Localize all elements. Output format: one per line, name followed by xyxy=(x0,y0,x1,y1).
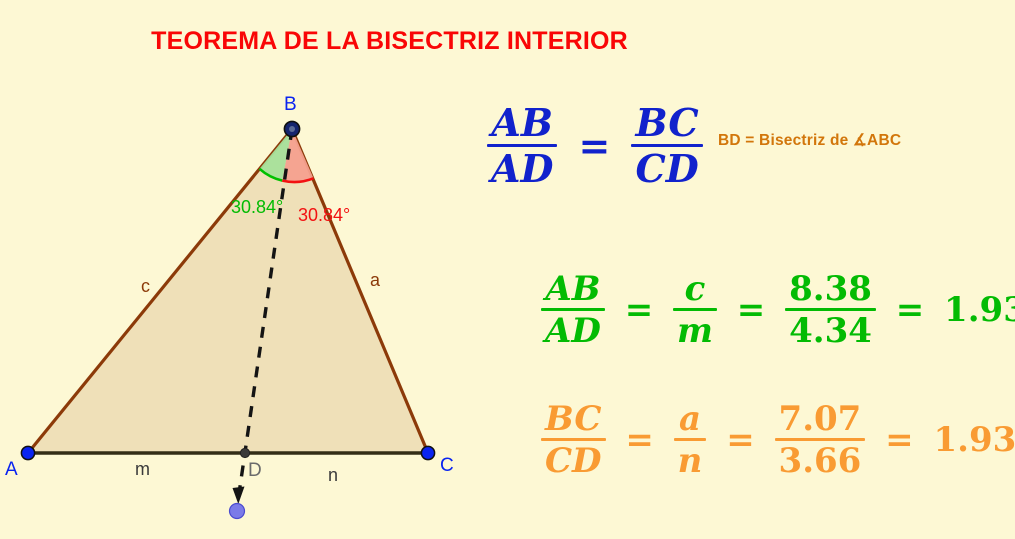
vertex-point-b-inner xyxy=(289,126,295,132)
side-label-m: m xyxy=(135,459,150,479)
formula-main-left-fraction: AB AD xyxy=(487,104,557,188)
formula-main-equals: = xyxy=(570,127,620,165)
formula-main-left-denominator: AD xyxy=(487,147,557,188)
orange-ratio-numerator: BC xyxy=(541,402,606,438)
orange-numbers-numerator: 7.07 xyxy=(775,402,866,438)
orange-equals-2: = xyxy=(717,423,764,457)
green-ratio-denominator: AD xyxy=(541,311,605,348)
vertex-label-c: C xyxy=(440,455,454,476)
geogebra-applet: TEOREMA DE LA BISECTRIZ INTERIOR B A C xyxy=(0,0,1015,539)
vertex-label-d: D xyxy=(248,460,262,481)
vertex-point-a[interactable] xyxy=(21,446,34,459)
orange-ratio-denominator: CD xyxy=(541,441,606,478)
formula-main-right-fraction: BC CD xyxy=(631,104,702,188)
green-equals-1: = xyxy=(616,293,663,327)
green-numbers-denominator: 4.34 xyxy=(785,311,876,348)
vertex-label-a: A xyxy=(5,459,18,480)
orange-result: 1.93 xyxy=(933,423,1015,457)
formula-main-right-denominator: CD xyxy=(631,147,702,188)
drag-point[interactable] xyxy=(230,504,245,519)
green-letters-denominator: m xyxy=(673,311,717,348)
bisector-arrowhead xyxy=(233,487,245,505)
green-ratio-numerator: AB xyxy=(541,272,605,308)
orange-numbers-denominator: 3.66 xyxy=(775,441,866,478)
orange-letters-denominator: n xyxy=(674,441,707,478)
triangle-abc-fill xyxy=(28,129,428,453)
green-letters-fraction: c m xyxy=(673,272,717,348)
green-ratio-equation: AB AD = c m = 8.38 4.34 = 1.93 xyxy=(541,272,1015,348)
formula-main-left-numerator: AB xyxy=(487,104,557,144)
green-result: 1.93 xyxy=(944,293,1015,327)
orange-letters-numerator: a xyxy=(674,402,707,438)
orange-equals-1: = xyxy=(616,423,663,457)
vertex-point-c[interactable] xyxy=(421,446,434,459)
green-numbers-numerator: 8.38 xyxy=(785,272,876,308)
side-label-c: c xyxy=(141,276,150,296)
side-label-a: a xyxy=(370,270,381,290)
angle-label-dbc: 30.84° xyxy=(298,205,350,225)
bisector-note: BD = Bisectriz de ∡ABC xyxy=(718,131,901,150)
formula-main-right-numerator: BC xyxy=(631,104,702,144)
point-d[interactable] xyxy=(240,448,249,457)
green-equals-2: = xyxy=(728,293,775,327)
orange-ratio-fraction: BC CD xyxy=(541,402,606,478)
green-letters-numerator: c xyxy=(673,272,717,308)
main-formula: AB AD = BC CD xyxy=(487,104,703,188)
geometry-figure: B A C D c a m n 30.84° 30.84° xyxy=(0,0,490,539)
orange-ratio-equation: BC CD = a n = 7.07 3.66 = 1.93 xyxy=(541,402,1015,478)
angle-label-abd: 30.84° xyxy=(231,197,283,217)
green-numbers-fraction: 8.38 4.34 xyxy=(785,272,876,348)
orange-letters-fraction: a n xyxy=(674,402,707,478)
green-equals-3: = xyxy=(887,293,934,327)
orange-numbers-fraction: 7.07 3.66 xyxy=(775,402,866,478)
vertex-label-b: B xyxy=(284,94,297,115)
orange-equals-3: = xyxy=(876,423,923,457)
side-label-n: n xyxy=(328,465,338,485)
green-ratio-fraction: AB AD xyxy=(541,272,605,348)
